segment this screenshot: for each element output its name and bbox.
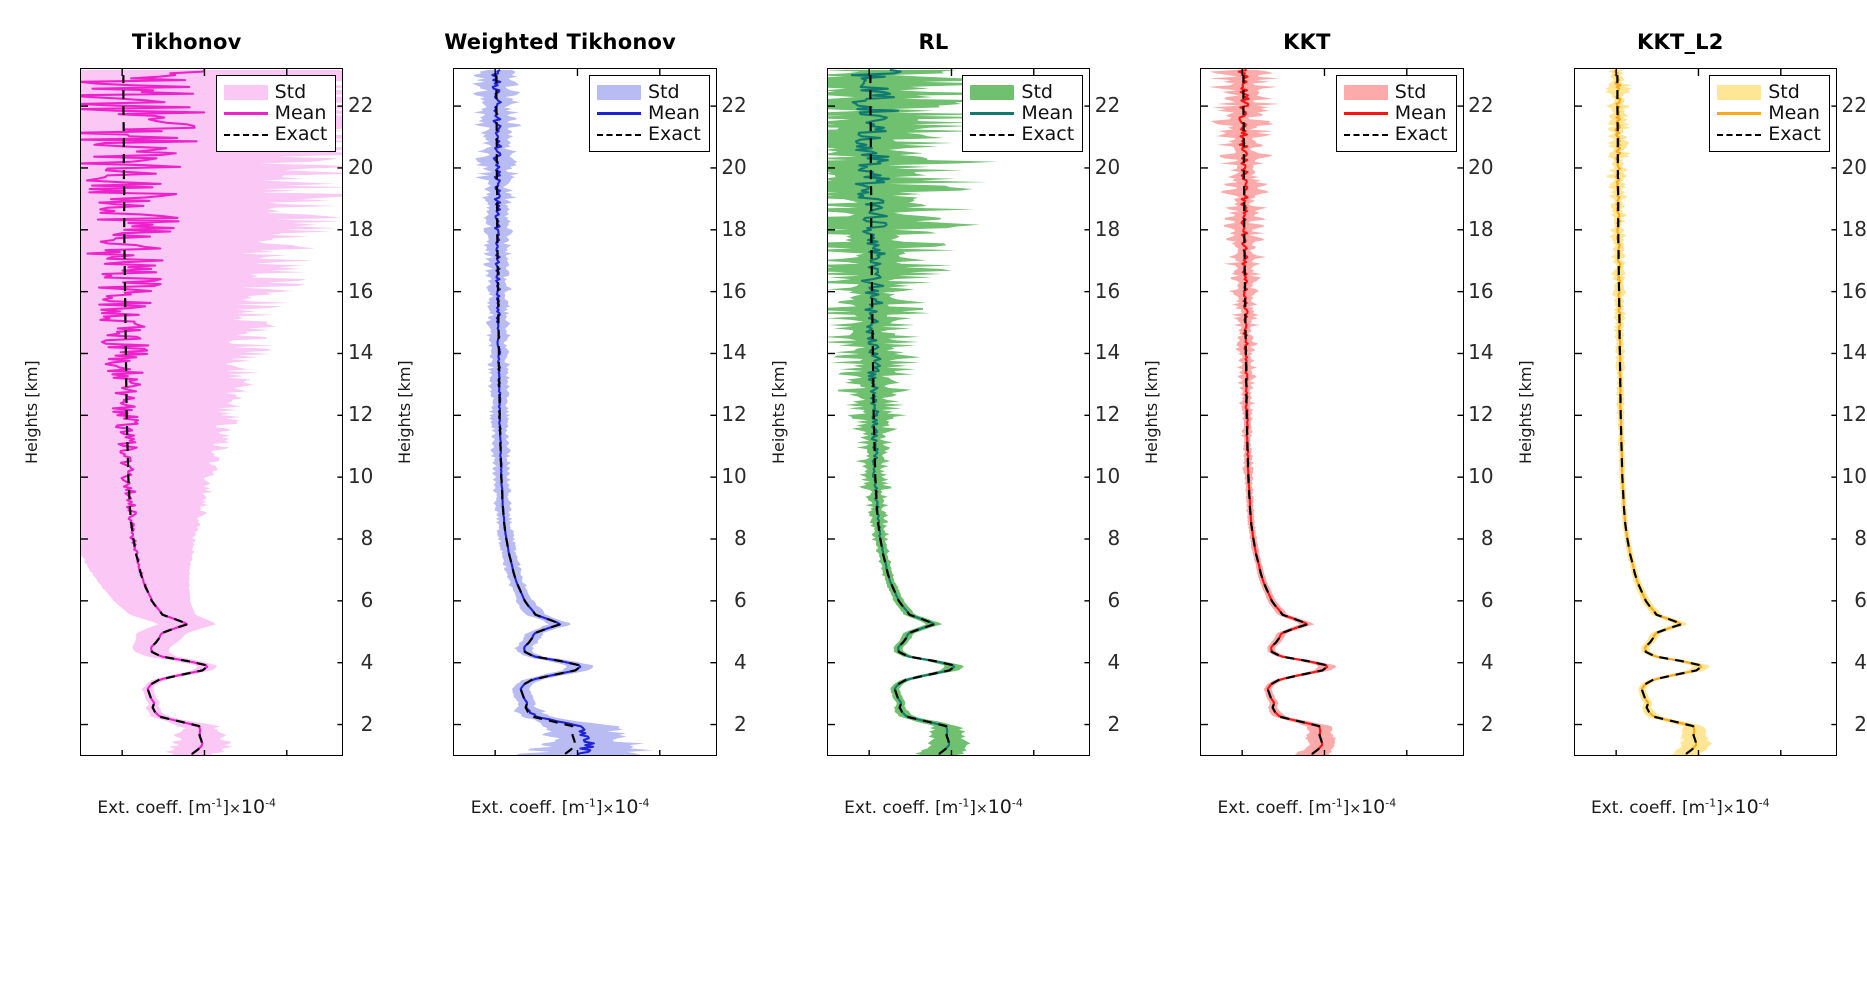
legend-std-swatch-icon <box>1344 85 1388 100</box>
x-axis-label-prefix: Ext. coeff. [m <box>844 798 958 818</box>
x-axis-label-exponent: -1 <box>1705 796 1716 809</box>
mean-line-kkt-l2 <box>1614 70 1700 756</box>
y-tick-label: 4 <box>677 650 747 674</box>
x-axis-label-prefix: Ext. coeff. [m <box>1218 798 1332 818</box>
y-tick-label: 8 <box>1424 526 1494 550</box>
y-tick-label: 6 <box>1050 588 1120 612</box>
y-tick-label: 18 <box>677 217 747 241</box>
y-tick-label: 14 <box>303 340 373 364</box>
legend-exact-label: Exact <box>1395 125 1448 144</box>
legend-mean-swatch-icon <box>970 106 1014 121</box>
legend-exact-swatch-icon <box>1344 127 1388 142</box>
legend-std-label: Std <box>648 83 680 102</box>
legend-mean-swatch-icon <box>1717 106 1761 121</box>
y-axis-label: Heights [km] <box>22 360 41 464</box>
std-band-rl <box>828 70 1045 756</box>
legend-exact-label: Exact <box>648 125 701 144</box>
x-axis-label-exponent: -1 <box>1332 796 1343 809</box>
y-tick-label: 22 <box>303 93 373 117</box>
multiplier-times-icon: × <box>1723 801 1735 817</box>
panel-title-tikhonov: Tikhonov <box>0 30 373 54</box>
y-tick-label: 6 <box>1424 588 1494 612</box>
exact-line-kkt-l2 <box>1617 75 1702 754</box>
y-tick-label: 8 <box>303 526 373 550</box>
legend-exact-swatch-icon <box>970 127 1014 142</box>
legend-mean-swatch-icon <box>1344 106 1388 121</box>
y-tick-label: 14 <box>1050 340 1120 364</box>
legend-exact-label: Exact <box>1021 125 1074 144</box>
y-tick-label: 20 <box>677 155 747 179</box>
figure-canvas: TikhonovStdMeanExact246810121416182022He… <box>0 0 1867 998</box>
y-tick-label: 6 <box>677 588 747 612</box>
multiplier-exponent: -4 <box>1012 796 1023 809</box>
y-tick-label: 22 <box>1050 93 1120 117</box>
y-tick-label: 2 <box>303 712 373 736</box>
multiplier-exponent: -4 <box>1385 796 1396 809</box>
y-tick-label: 20 <box>1424 155 1494 179</box>
y-tick-label: 2 <box>677 712 747 736</box>
x-axis-label-exponent: -1 <box>212 796 223 809</box>
x-axis-label-exponent: -1 <box>585 796 596 809</box>
y-axis-label: Heights [km] <box>1516 360 1535 464</box>
y-tick-label: 22 <box>1424 93 1494 117</box>
x-axis-label-prefix: Ext. coeff. [m <box>97 798 211 818</box>
legend-std-label: Std <box>1395 83 1427 102</box>
panel-title-kkt: KKT <box>1120 30 1493 54</box>
legend-exact-label: Exact <box>1768 125 1821 144</box>
y-tick-label: 6 <box>303 588 373 612</box>
panel-title-kkt-l2: KKT_L2 <box>1494 30 1867 54</box>
y-tick-label: 16 <box>677 279 747 303</box>
y-tick-label: 8 <box>1797 526 1867 550</box>
panel-kkt: KKTStdMeanExact246810121416182022Heights… <box>1120 0 1493 998</box>
x-axis-label-suffix: ] <box>969 798 976 818</box>
legend-std-swatch-icon <box>224 85 268 100</box>
legend-exact-swatch-icon <box>1717 127 1761 142</box>
y-tick-label: 16 <box>1050 279 1120 303</box>
legend-exact-row-rl: Exact <box>970 124 1074 145</box>
y-tick-label: 6 <box>1797 588 1867 612</box>
y-tick-label: 18 <box>1424 217 1494 241</box>
legend-std-swatch-icon <box>1717 85 1761 100</box>
y-tick-label: 16 <box>1797 279 1867 303</box>
y-tick-label: 22 <box>1797 93 1867 117</box>
legend-exact-row-kkt-l2: Exact <box>1717 124 1821 145</box>
y-tick-label: 10 <box>303 464 373 488</box>
y-tick-label: 4 <box>1050 650 1120 674</box>
legend-exact-swatch-icon <box>224 127 268 142</box>
y-tick-label: 4 <box>303 650 373 674</box>
legend-exact-label: Exact <box>275 125 328 144</box>
panel-kkt-l2: KKT_L2StdMeanExact246810121416182022Heig… <box>1494 0 1867 998</box>
multiplier-exponent: -4 <box>265 796 276 809</box>
y-tick-label: 12 <box>1050 402 1120 426</box>
y-tick-label: 10 <box>1050 464 1120 488</box>
legend-exact-swatch-icon <box>597 127 641 142</box>
panel-rl: RLStdMeanExact246810121416182022Heights … <box>747 0 1120 998</box>
y-tick-label: 16 <box>1424 279 1494 303</box>
multiplier-exponent: -4 <box>638 796 649 809</box>
x-axis-label: Ext. coeff. [m-1]×10-4 <box>747 796 1120 818</box>
multiplier-exponent: -4 <box>1759 796 1770 809</box>
y-tick-label: 4 <box>1797 650 1867 674</box>
multiplier-times-icon: × <box>603 801 615 817</box>
multiplier-times-icon: × <box>976 801 988 817</box>
y-axis-label: Heights [km] <box>769 360 788 464</box>
y-tick-label: 22 <box>677 93 747 117</box>
y-tick-label: 16 <box>303 279 373 303</box>
x-axis-label-exponent: -1 <box>958 796 969 809</box>
x-axis-label: Ext. coeff. [m-1]×10-4 <box>1120 796 1493 818</box>
panel-title-rl: RL <box>747 30 1120 54</box>
x-axis-label: Ext. coeff. [m-1]×10-4 <box>373 796 746 818</box>
legend-std-swatch-icon <box>597 85 641 100</box>
y-tick-label: 2 <box>1424 712 1494 736</box>
legend-exact-row-tikhonov: Exact <box>224 124 328 145</box>
y-tick-label: 18 <box>303 217 373 241</box>
legend-mean-swatch-icon <box>597 106 641 121</box>
y-tick-label: 10 <box>1424 464 1494 488</box>
legend-exact-row-kkt: Exact <box>1344 124 1448 145</box>
legend-mean-swatch-icon <box>224 106 268 121</box>
y-axis-label: Heights [km] <box>1142 360 1161 464</box>
multiplier-mantissa: 10 <box>988 796 1012 818</box>
y-tick-label: 8 <box>1050 526 1120 550</box>
y-tick-label: 10 <box>677 464 747 488</box>
y-tick-label: 14 <box>1797 340 1867 364</box>
legend-exact-row-weighted-tikhonov: Exact <box>597 124 701 145</box>
y-tick-label: 14 <box>677 340 747 364</box>
multiplier-times-icon: × <box>1349 801 1361 817</box>
x-axis-label-prefix: Ext. coeff. [m <box>471 798 585 818</box>
multiplier-mantissa: 10 <box>614 796 638 818</box>
x-axis-label: Ext. coeff. [m-1]×10-4 <box>1494 796 1867 818</box>
y-tick-label: 20 <box>1797 155 1867 179</box>
y-tick-label: 10 <box>1797 464 1867 488</box>
legend-std-label: Std <box>1021 83 1053 102</box>
y-axis-label: Heights [km] <box>395 360 414 464</box>
legend-std-swatch-icon <box>970 85 1014 100</box>
panel-weighted-tikhonov: Weighted TikhonovStdMeanExact24681012141… <box>373 0 746 998</box>
panel-tikhonov: TikhonovStdMeanExact246810121416182022He… <box>0 0 373 998</box>
y-tick-label: 14 <box>1424 340 1494 364</box>
multiplier-mantissa: 10 <box>1361 796 1385 818</box>
multiplier-mantissa: 10 <box>241 796 265 818</box>
multiplier-times-icon: × <box>229 801 241 817</box>
y-tick-label: 12 <box>1797 402 1867 426</box>
y-tick-label: 20 <box>303 155 373 179</box>
y-tick-label: 12 <box>677 402 747 426</box>
multiplier-mantissa: 10 <box>1734 796 1758 818</box>
y-tick-label: 12 <box>1424 402 1494 426</box>
y-tick-label: 2 <box>1050 712 1120 736</box>
x-axis-label-prefix: Ext. coeff. [m <box>1591 798 1705 818</box>
x-axis-label-suffix: ] <box>596 798 603 818</box>
y-tick-label: 12 <box>303 402 373 426</box>
x-axis-label: Ext. coeff. [m-1]×10-4 <box>0 796 373 818</box>
legend-std-label: Std <box>275 83 307 102</box>
x-axis-label-suffix: ] <box>1716 798 1723 818</box>
y-tick-label: 8 <box>677 526 747 550</box>
y-tick-label: 20 <box>1050 155 1120 179</box>
y-tick-label: 18 <box>1050 217 1120 241</box>
y-tick-label: 4 <box>1424 650 1494 674</box>
panel-title-weighted-tikhonov: Weighted Tikhonov <box>373 30 746 54</box>
y-tick-label: 2 <box>1797 712 1867 736</box>
y-tick-label: 18 <box>1797 217 1867 241</box>
legend-std-label: Std <box>1768 83 1800 102</box>
